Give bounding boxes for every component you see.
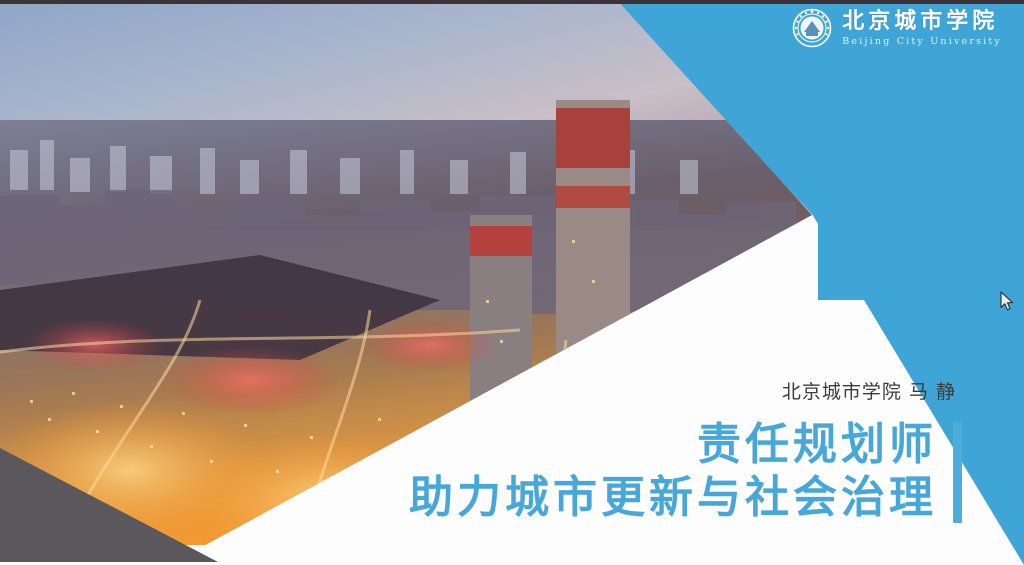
university-logo: 北京城市学院 Beijing City University [792, 8, 1002, 48]
presenter-line: 北京城市学院 马 静 [409, 377, 956, 404]
slide-title: 责任规划师 助力城市更新与社会治理 [409, 418, 937, 525]
title-accent-bar [953, 422, 962, 523]
title-line-2: 助力城市更新与社会治理 [409, 471, 937, 525]
logo-name-en: Beijing City University [842, 37, 1002, 47]
university-seal-icon [792, 8, 832, 48]
window-top-strip [0, 0, 1024, 4]
presentation-slide: 北京城市学院 Beijing City University 北京城市学院 马 … [0, 0, 1024, 565]
mouse-pointer-icon [1000, 291, 1016, 313]
logo-name-cn: 北京城市学院 [842, 10, 998, 32]
slide-text-block: 北京城市学院 马 静 责任规划师 助力城市更新与社会治理 [409, 377, 962, 525]
title-line-1: 责任规划师 [697, 418, 937, 472]
